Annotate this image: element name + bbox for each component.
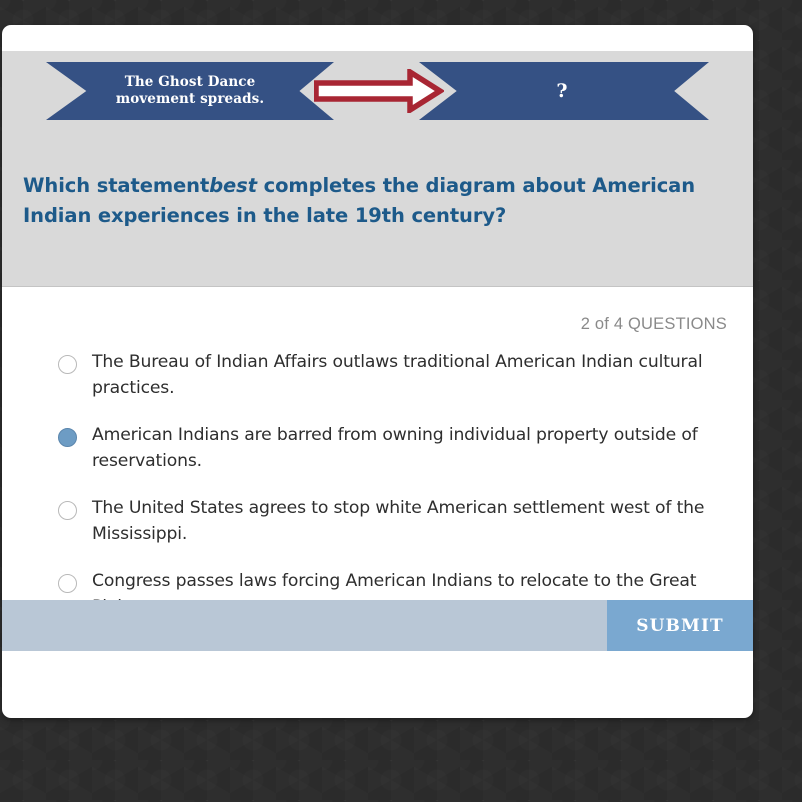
- radio-button-c[interactable]: [58, 501, 77, 520]
- answer-option-c-label: The United States agrees to stop white A…: [92, 496, 729, 548]
- diagram-graphic: The Ghost Dance movement spreads. ?: [2, 51, 753, 159]
- diagram-node-2-label: ?: [546, 79, 581, 103]
- diagram-node-2: ?: [419, 62, 709, 120]
- radio-button-a[interactable]: [58, 355, 77, 374]
- radio-button-b-selected[interactable]: [58, 428, 77, 447]
- footer-bar: SUBMIT: [2, 600, 753, 651]
- submit-button[interactable]: SUBMIT: [607, 600, 753, 651]
- answer-options-list: The Bureau of Indian Affairs outlaws tra…: [2, 350, 753, 621]
- diagram-node-1-line2: movement spreads.: [116, 91, 264, 107]
- diagram-node-1-label: The Ghost Dance movement spreads.: [102, 74, 278, 109]
- prompt-emphasis: best: [209, 174, 257, 197]
- question-body: 2 of 4 QUESTIONS The Bureau of Indian Af…: [2, 287, 753, 659]
- answer-option-a-label: The Bureau of Indian Affairs outlaws tra…: [92, 350, 729, 402]
- diagram-node-1-line1: The Ghost Dance: [125, 74, 256, 90]
- radio-button-d[interactable]: [58, 574, 77, 593]
- question-counter: 2 of 4 QUESTIONS: [2, 287, 753, 334]
- answer-option-b[interactable]: American Indians are barred from owning …: [2, 423, 753, 475]
- question-header: The Ghost Dance movement spreads. ? Whic…: [2, 51, 753, 287]
- answer-option-b-label: American Indians are barred from owning …: [92, 423, 729, 475]
- quiz-card: The Ghost Dance movement spreads. ? Whic…: [2, 25, 753, 718]
- diagram-node-1: The Ghost Dance movement spreads.: [46, 62, 334, 120]
- answer-option-c[interactable]: The United States agrees to stop white A…: [2, 496, 753, 548]
- answer-option-a[interactable]: The Bureau of Indian Affairs outlaws tra…: [2, 350, 753, 402]
- page-title: Which statementbest completes the diagra…: [2, 159, 753, 230]
- right-arrow-icon: [314, 69, 444, 113]
- prompt-text-part1: Which statement: [23, 174, 209, 197]
